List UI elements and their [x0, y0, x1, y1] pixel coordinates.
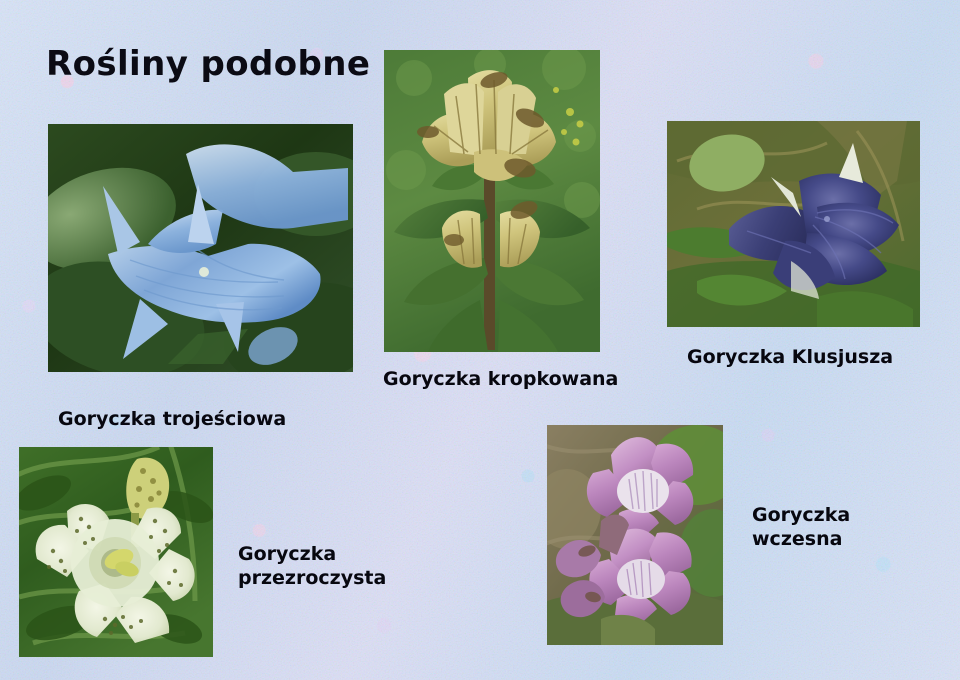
photo-goryczka-wczesna[interactable] [547, 425, 723, 645]
photo-goryczka-trojesciowa[interactable] [48, 124, 353, 372]
caption-goryczka-trojesciowa: Goryczka trojeściowa [58, 407, 286, 431]
caption-goryczka-przezroczysta: Goryczka przezroczysta [238, 542, 386, 590]
photo-goryczka-kropkowana[interactable] [384, 50, 600, 352]
photo-goryczka-klusjusza[interactable] [667, 121, 920, 327]
page-title: Rośliny podobne [46, 42, 370, 86]
caption-goryczka-wczesna: Goryczka wczesna [752, 503, 850, 551]
photo-goryczka-przezroczysta[interactable] [19, 447, 213, 657]
presentation-slide: Rośliny podobne [0, 0, 960, 680]
caption-goryczka-kropkowana: Goryczka kropkowana [383, 367, 618, 391]
caption-goryczka-klusjusza: Goryczka Klusjusza [687, 345, 893, 369]
